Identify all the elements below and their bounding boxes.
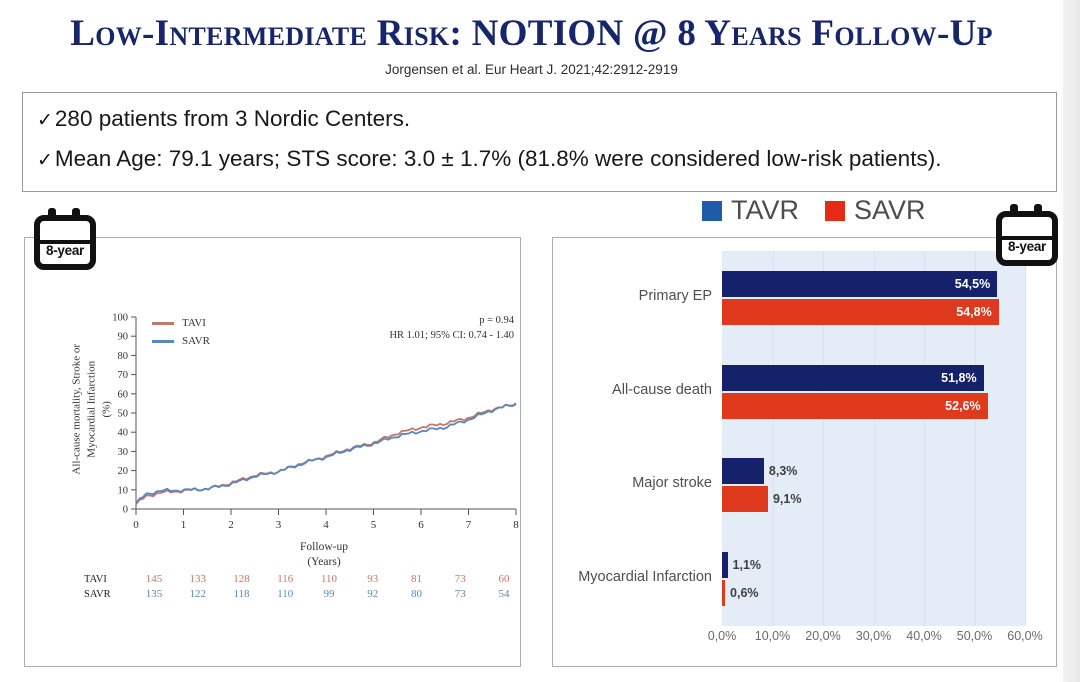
bar-category-label: All-cause death — [612, 382, 712, 398]
svg-text:7: 7 — [466, 519, 472, 531]
calendar-badge-right: 8-year — [996, 204, 1058, 266]
slide: Low-Intermediate Risk: NOTION @ 8 Years … — [0, 0, 1063, 682]
x-axis-tick: 40,0% — [906, 629, 941, 643]
check-icon: ✓ — [37, 110, 53, 133]
bullet-text: Mean Age: 79.1 years; STS score: 3.0 ± 1… — [55, 145, 942, 172]
legend-label-tavr: TAVR — [731, 195, 799, 226]
risk-value: 73 — [440, 573, 480, 585]
bar-value-label: 8,3% — [764, 464, 798, 478]
bar-value-label: 54,5% — [955, 277, 997, 291]
svg-text:90: 90 — [118, 332, 129, 343]
risk-value: 118 — [222, 588, 262, 600]
svg-text:6: 6 — [418, 519, 424, 531]
bar-savr: 0,6% — [722, 580, 725, 606]
bar-category-label: Myocardial Infarction — [578, 569, 712, 585]
bullet-text: 280 patients from 3 Nordic Centers. — [55, 105, 410, 132]
risk-value: 80 — [397, 588, 437, 600]
bar-chart-legend: TAVR SAVR — [702, 195, 926, 226]
bar-plot-area: 54,5%54,8%51,8%52,6%8,3%9,1%1,1%0,6% — [722, 251, 1025, 626]
svg-text:20: 20 — [118, 466, 129, 477]
svg-text:50: 50 — [118, 409, 129, 420]
risk-value: 145 — [134, 573, 174, 585]
bar-tavr: 51,8% — [722, 365, 984, 391]
bar-category-label: Major stroke — [632, 475, 712, 491]
risk-table-row-savr: SAVR 1351221181109992807354 — [84, 588, 524, 600]
risk-table: TAVI 14513312811611093817360 SAVR 135122… — [84, 573, 524, 603]
gridline — [1025, 251, 1026, 626]
risk-row-label: TAVI — [84, 574, 130, 585]
svg-text:80: 80 — [118, 351, 129, 362]
km-plot-area: 0102030405060708090100012345678 — [24, 237, 521, 537]
x-axis-tick: 20,0% — [805, 629, 840, 643]
calendar-badge-label: 8-year — [1002, 239, 1052, 254]
risk-value: 93 — [353, 573, 393, 585]
bar-category-labels: Primary EPAll-cause deathMajor strokeMyo… — [552, 251, 720, 626]
risk-value: 110 — [309, 573, 349, 585]
bar-tavr: 54,5% — [722, 271, 997, 297]
bar-category-label: Primary EP — [639, 288, 712, 304]
x-axis-tick: 30,0% — [856, 629, 891, 643]
x-axis-tick: 50,0% — [957, 629, 992, 643]
x-axis-tick: 0,0% — [708, 629, 737, 643]
svg-text:3: 3 — [276, 519, 282, 531]
svg-text:2: 2 — [228, 519, 234, 531]
bar-tavr: 8,3% — [722, 458, 764, 484]
tavr-color-swatch — [702, 201, 722, 221]
svg-text:10: 10 — [118, 485, 129, 496]
risk-value: 81 — [397, 573, 437, 585]
slide-edge-shadow — [1063, 0, 1080, 682]
svg-text:100: 100 — [112, 313, 128, 324]
legend-label-savr: SAVR — [854, 195, 926, 226]
risk-value: 133 — [178, 573, 218, 585]
svg-text:0: 0 — [123, 505, 128, 516]
bar-value-label: 54,8% — [956, 305, 998, 319]
calendar-badge-left: 8-year — [34, 208, 96, 270]
bullet-item: ✓ 280 patients from 3 Nordic Centers. — [37, 105, 1042, 133]
summary-box: ✓ 280 patients from 3 Nordic Centers. ✓ … — [22, 92, 1057, 192]
risk-value: 99 — [309, 588, 349, 600]
risk-value: 54 — [484, 588, 524, 600]
risk-value: 92 — [353, 588, 393, 600]
risk-value: 116 — [265, 573, 305, 585]
bar-value-label: 1,1% — [728, 558, 762, 572]
outcomes-bar-chart: TAVR SAVR Primary EPAll-cause deathMajor… — [552, 237, 1057, 667]
legend-item-savr: SAVR — [825, 195, 926, 226]
svg-text:4: 4 — [323, 519, 329, 531]
x-axis-tick: 60,0% — [1007, 629, 1042, 643]
check-icon: ✓ — [37, 150, 53, 173]
risk-value: 128 — [222, 573, 262, 585]
bar-x-axis: 0,0%10,0%20,0%30,0%40,0%50,0%60,0% — [722, 629, 1025, 649]
risk-row-values: 14513312811611093817360 — [130, 573, 524, 585]
bar-value-label: 51,8% — [941, 371, 983, 385]
risk-value: 73 — [440, 588, 480, 600]
risk-value: 110 — [265, 588, 305, 600]
bar-savr: 54,8% — [722, 299, 999, 325]
savr-color-swatch — [825, 201, 845, 221]
risk-value: 60 — [484, 573, 524, 585]
risk-value: 122 — [178, 588, 218, 600]
citation: Jorgensen et al. Eur Heart J. 2021;42:29… — [0, 62, 1063, 77]
risk-table-row-tavi: TAVI 14513312811611093817360 — [84, 573, 524, 585]
svg-text:70: 70 — [118, 370, 129, 381]
calendar-icon: 8-year — [996, 211, 1058, 266]
svg-text:60: 60 — [118, 389, 129, 400]
bar-value-label: 52,6% — [945, 399, 987, 413]
svg-text:30: 30 — [118, 447, 129, 458]
bar-tavr: 1,1% — [722, 552, 728, 578]
svg-text:40: 40 — [118, 428, 129, 439]
svg-text:0: 0 — [133, 519, 139, 531]
kaplan-meier-chart: All-cause mortality, Stroke or Myocardia… — [24, 237, 521, 667]
risk-row-values: 1351221181109992807354 — [130, 588, 524, 600]
svg-text:8: 8 — [513, 519, 519, 531]
km-x-axis-label: Follow-up (Years) — [124, 540, 524, 570]
page-title: Low-Intermediate Risk: NOTION @ 8 Years … — [0, 12, 1063, 55]
risk-row-label: SAVR — [84, 589, 130, 600]
calendar-badge-label: 8-year — [40, 243, 90, 258]
bar-savr: 9,1% — [722, 486, 768, 512]
calendar-icon: 8-year — [34, 215, 96, 270]
svg-text:5: 5 — [371, 519, 377, 531]
bullet-item: ✓ Mean Age: 79.1 years; STS score: 3.0 ±… — [37, 145, 1042, 173]
legend-item-tavr: TAVR — [702, 195, 799, 226]
bar-value-label: 0,6% — [725, 586, 759, 600]
svg-text:1: 1 — [181, 519, 187, 531]
bar-savr: 52,6% — [722, 393, 988, 419]
risk-value: 135 — [134, 588, 174, 600]
x-axis-tick: 10,0% — [755, 629, 790, 643]
bar-value-label: 9,1% — [768, 492, 802, 506]
